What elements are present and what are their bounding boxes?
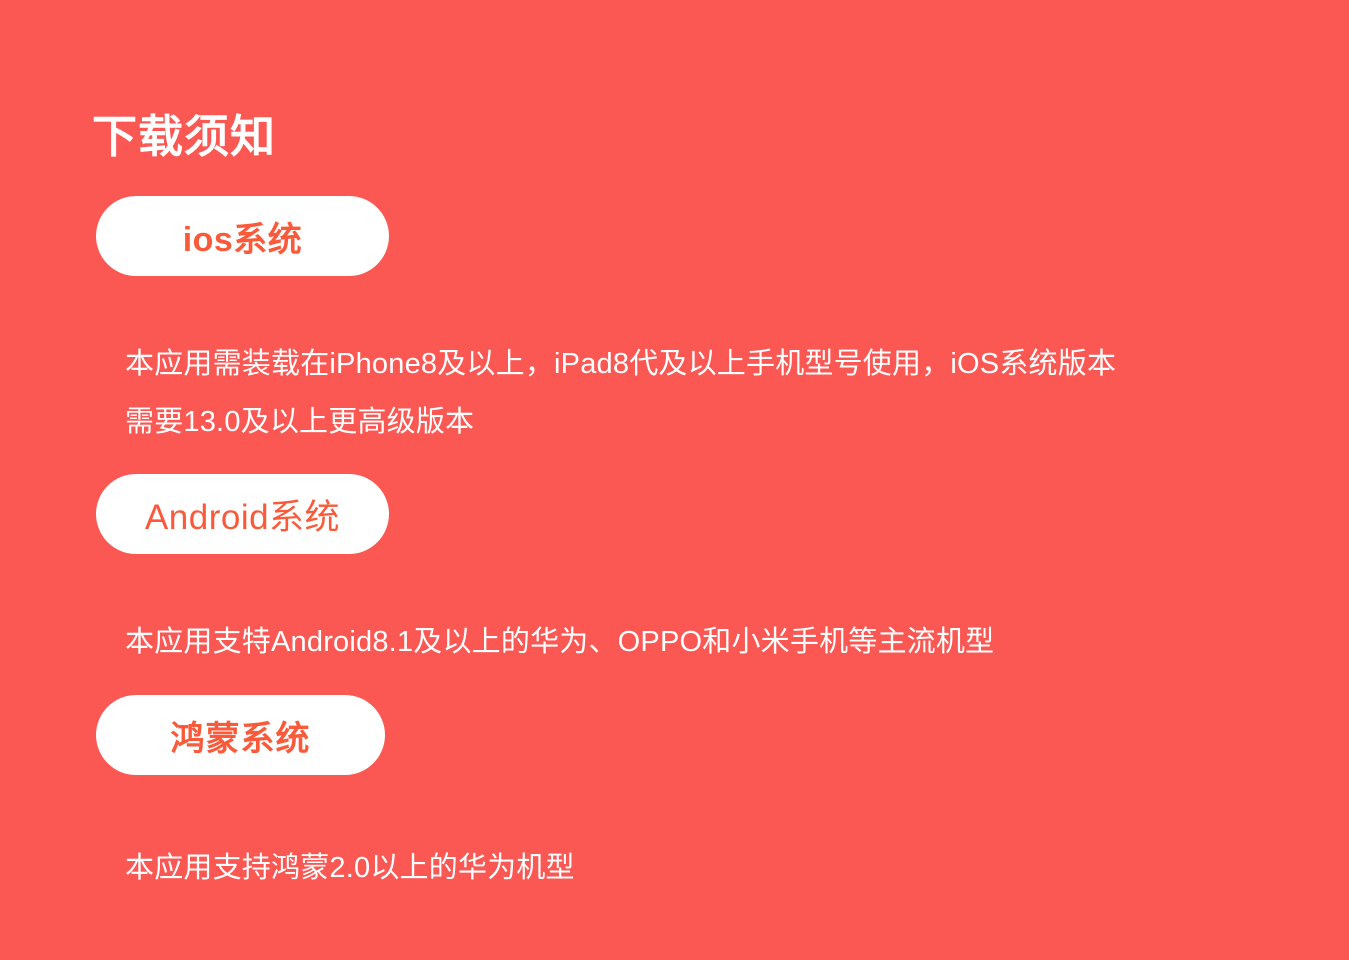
android-description-line-1: 本应用支特Android8.1及以上的华为、OPPO和小米手机等主流机型 — [125, 613, 1285, 671]
badge-harmony-system[interactable]: 鸿蒙系统 — [96, 695, 385, 775]
ios-description-line-1: 本应用需装载在iPhone8及以上，iPad8代及以上手机型号使用，iOS系统版… — [125, 335, 1285, 393]
android-description: 本应用支特Android8.1及以上的华为、OPPO和小米手机等主流机型 — [125, 613, 1285, 671]
harmony-description: 本应用支持鸿蒙2.0以上的华为机型 — [125, 839, 1285, 897]
badge-harmony-label: 鸿蒙系统 — [171, 711, 311, 760]
badge-android-system[interactable]: Android系统 — [96, 474, 389, 554]
harmony-description-line-1: 本应用支持鸿蒙2.0以上的华为机型 — [125, 839, 1285, 897]
ios-description-line-2: 需要13.0及以上更高级版本 — [125, 393, 1285, 451]
page-title: 下载须知 — [92, 111, 276, 163]
badge-android-label: Android系统 — [145, 489, 340, 540]
ios-description: 本应用需装载在iPhone8及以上，iPad8代及以上手机型号使用，iOS系统版… — [125, 335, 1285, 451]
badge-ios-label: ios系统 — [183, 212, 303, 261]
badge-ios-system[interactable]: ios系统 — [96, 196, 389, 276]
download-notice-page: 下载须知 ios系统 本应用需装载在iPhone8及以上，iPad8代及以上手机… — [0, 0, 1349, 960]
